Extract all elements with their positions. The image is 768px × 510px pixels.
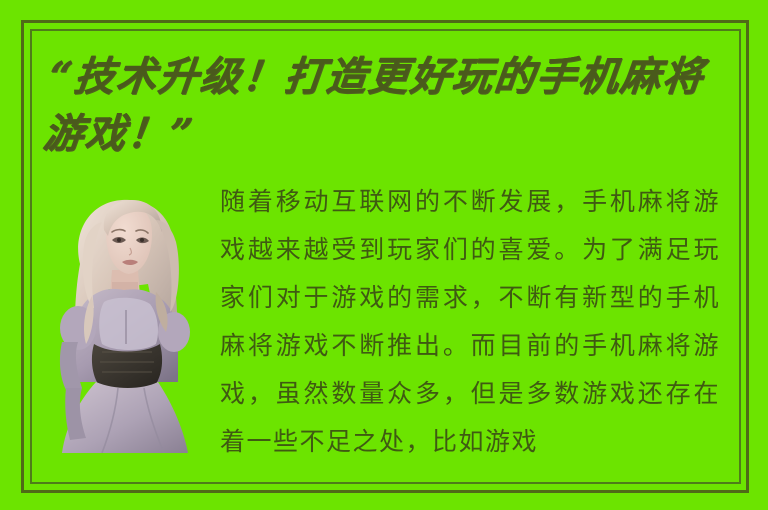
body-paragraph: 随着移动互联网的不断发展，手机麻将游戏越来越受到玩家们的喜爱。为了满足玩家们对于…	[220, 178, 720, 466]
woman-illustration	[52, 192, 200, 453]
page-title: “技术升级！打造更好玩的手机麻将游戏！”	[40, 48, 746, 162]
banner-canvas: “技术升级！打造更好玩的手机麻将游戏！”	[0, 0, 768, 510]
